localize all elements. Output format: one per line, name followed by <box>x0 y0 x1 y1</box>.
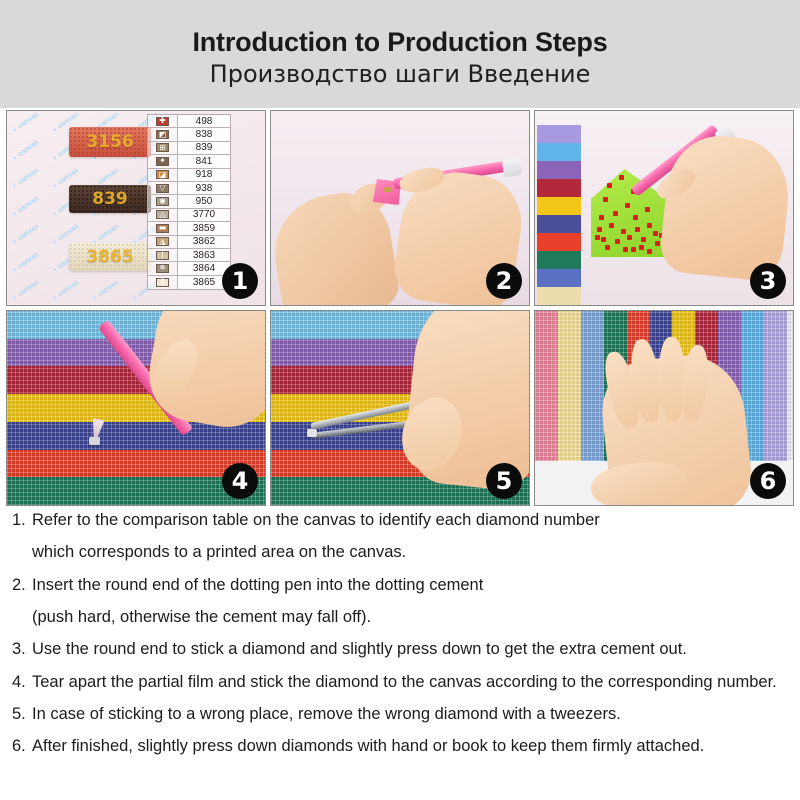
red-diamond <box>599 215 604 220</box>
chart-symbol-icon: ✱ <box>156 197 169 206</box>
chart-symbol-icon: ✵ <box>156 264 169 273</box>
canvas-stripe <box>537 233 581 251</box>
red-diamond <box>621 229 626 234</box>
red-diamond <box>627 235 632 240</box>
chart-symbol-cell: ◩ <box>148 128 178 140</box>
thumb <box>590 460 689 505</box>
chart-color-number: 950 <box>178 195 230 207</box>
chart-row: ✚498 <box>148 115 230 128</box>
red-diamond <box>613 211 618 216</box>
color-comparison-chart: ✚498◩838⊞839✦841◪918▽938✱950△3770▬3859◮3… <box>147 114 231 290</box>
canvas-stripe <box>537 125 581 143</box>
red-diamond <box>595 235 600 240</box>
chart-color-number: 938 <box>178 182 230 194</box>
step-badge: 2 <box>486 263 522 299</box>
red-diamond <box>603 197 608 202</box>
chart-symbol-cell: △ <box>148 209 178 221</box>
chart-symbol-cell: ✵ <box>148 262 178 274</box>
removed-diamond <box>307 429 317 437</box>
page-title-english: Introduction to Production Steps <box>192 27 607 58</box>
step-badge: 4 <box>222 463 258 499</box>
diamond-bag-label: 3865 <box>86 247 133 267</box>
chart-color-number: 498 <box>178 115 230 127</box>
chart-row: ◮3862 <box>148 236 230 249</box>
chart-color-number: 839 <box>178 142 230 154</box>
cement-hole <box>383 187 392 192</box>
instruction-line: 2.Insert the round end of the dotting pe… <box>12 577 792 594</box>
chart-row: ◪918 <box>148 169 230 182</box>
step-badge: 1 <box>222 263 258 299</box>
striped-canvas <box>537 125 581 305</box>
chart-color-number: 918 <box>178 169 230 181</box>
canvas-stripe <box>537 269 581 287</box>
step-photo-grid: ◐ canvas◐ canvas◐ canvas◐ canvas◐ canvas… <box>6 110 794 506</box>
chart-row: ✱950 <box>148 195 230 208</box>
instruction-text: Tear apart the partial film and stick th… <box>32 674 777 691</box>
diamond-bag-3: 3865 <box>69 243 151 271</box>
red-diamond <box>605 245 610 250</box>
chart-color-number: 3864 <box>178 262 230 274</box>
panel-insert-pen-into-cement: 2 <box>270 110 530 306</box>
chart-symbol-cell: ◮ <box>148 236 178 248</box>
instruction-number: 1. <box>12 512 32 529</box>
red-diamond <box>633 215 638 220</box>
instruction-list: 1.Refer to the comparison table on the c… <box>12 512 792 771</box>
chart-row: ▬3859 <box>148 222 230 235</box>
chart-symbol-cell: ◪ <box>148 169 178 181</box>
chart-symbol-icon: ✚ <box>156 117 169 126</box>
canvas-stripe <box>537 179 581 197</box>
red-diamond <box>597 227 602 232</box>
instruction-text: which corresponds to a printed area on t… <box>32 544 406 561</box>
instruction-sheet: Introduction to Production Steps Произво… <box>0 0 800 800</box>
red-diamond <box>607 183 612 188</box>
canvas-stripe <box>537 287 581 305</box>
instruction-number: 5. <box>12 706 32 723</box>
chart-row: ✦841 <box>148 155 230 168</box>
red-diamond <box>655 241 660 246</box>
canvas-stripe <box>537 215 581 233</box>
instruction-line: 6.After finished, slightly press down di… <box>12 738 792 755</box>
pen-cap <box>502 158 522 178</box>
chart-symbol-cell: ❘ <box>148 249 178 261</box>
chart-color-number: 838 <box>178 128 230 140</box>
instruction-line: 3.Use the round end to stick a diamond a… <box>12 641 792 658</box>
diamond-bag-label: 839 <box>92 189 128 209</box>
chart-color-number: 3770 <box>178 209 230 221</box>
red-diamond <box>625 203 630 208</box>
chart-symbol-cell: ▽ <box>148 182 178 194</box>
chart-symbol-cell: ⊞ <box>148 142 178 154</box>
instruction-number: 2. <box>12 577 32 594</box>
panel-remove-diamond-with-tweezers: 5 <box>270 310 530 506</box>
chart-symbol-cell: ✚ <box>148 115 178 127</box>
chart-symbol-icon: ✦ <box>156 157 169 166</box>
chart-row: ✵3864 <box>148 262 230 275</box>
red-diamond <box>653 231 658 236</box>
chart-symbol-cell: ✱ <box>148 195 178 207</box>
chart-symbol-cell: ▬ <box>148 222 178 234</box>
chart-symbol-cell: ∥ <box>148 276 178 289</box>
instruction-line: 1.Refer to the comparison table on the c… <box>12 512 792 529</box>
chart-symbol-icon: ⊞ <box>156 143 169 152</box>
instruction-text: (push hard, otherwise the cement may fal… <box>32 609 371 626</box>
canvas-stripe <box>537 161 581 179</box>
red-diamond <box>635 227 640 232</box>
red-diamond <box>631 247 636 252</box>
panel-diamond-bags-and-color-chart: ◐ canvas◐ canvas◐ canvas◐ canvas◐ canvas… <box>6 110 266 306</box>
chart-symbol-icon: ◩ <box>156 130 169 139</box>
diamond-bag-label: 3156 <box>86 132 133 152</box>
chart-color-number: 841 <box>178 155 230 167</box>
step-badge: 3 <box>750 263 786 299</box>
chart-row: ∥3865 <box>148 276 230 289</box>
chart-row: △3770 <box>148 209 230 222</box>
chart-symbol-icon: ❘ <box>156 251 169 260</box>
page-title-russian: Производство шаги Введение <box>210 60 591 89</box>
chart-row: ◩838 <box>148 128 230 141</box>
chart-symbol-icon: ▬ <box>156 224 169 233</box>
panel-press-down-diamonds: 6 <box>534 310 794 506</box>
step-badge: 5 <box>486 463 522 499</box>
chart-symbol-icon: ∥ <box>156 278 169 287</box>
instruction-line: 4.Tear apart the partial film and stick … <box>12 674 792 691</box>
page-header: Introduction to Production Steps Произво… <box>0 0 800 108</box>
canvas-stripe <box>537 143 581 161</box>
red-diamond <box>619 175 624 180</box>
instruction-text: Refer to the comparison table on the can… <box>32 512 600 529</box>
chart-symbol-icon: ◪ <box>156 170 169 179</box>
instruction-text: Use the round end to stick a diamond and… <box>32 641 687 658</box>
diamond-bag-2: 839 <box>69 185 151 213</box>
chart-symbol-cell: ✦ <box>148 155 178 167</box>
instruction-number: 3. <box>12 641 32 658</box>
red-diamond <box>623 247 628 252</box>
chart-row: ▽938 <box>148 182 230 195</box>
red-diamond <box>641 237 646 242</box>
red-diamond <box>647 249 652 254</box>
red-diamond <box>645 207 650 212</box>
step-badge: 6 <box>750 463 786 499</box>
red-diamond <box>601 237 606 242</box>
chart-color-number: 3862 <box>178 236 230 248</box>
red-diamond <box>639 245 644 250</box>
chart-row: ⊞839 <box>148 142 230 155</box>
diamond-bag-1: 3156 <box>69 127 151 157</box>
canvas-stripe <box>537 197 581 215</box>
red-diamond <box>615 239 620 244</box>
chart-symbol-icon: ▽ <box>156 184 169 193</box>
chart-color-number: 3863 <box>178 249 230 261</box>
panel-stick-diamond-to-canvas: 4 <box>6 310 266 506</box>
panel-pick-diamond-from-tray: 3 <box>534 110 794 306</box>
red-diamond <box>609 223 614 228</box>
chart-color-number: 3859 <box>178 222 230 234</box>
instruction-text: In case of sticking to a wrong place, re… <box>32 706 621 723</box>
chart-symbol-icon: ◮ <box>156 237 169 246</box>
chart-row: ❘3863 <box>148 249 230 262</box>
instruction-text: After finished, slightly press down diam… <box>32 738 704 755</box>
instruction-line: (push hard, otherwise the cement may fal… <box>12 609 792 626</box>
finger-3 <box>658 337 685 421</box>
instruction-text: Insert the round end of the dotting pen … <box>32 577 483 594</box>
instruction-number: 6. <box>12 738 32 755</box>
instruction-line: 5.In case of sticking to a wrong place, … <box>12 706 792 723</box>
instruction-line: which corresponds to a printed area on t… <box>12 544 792 561</box>
diamond-on-pen-tip <box>89 437 100 445</box>
instruction-number: 4. <box>12 674 32 691</box>
chart-symbol-icon: △ <box>156 210 169 219</box>
red-diamond <box>647 223 652 228</box>
canvas-stripe <box>537 251 581 269</box>
